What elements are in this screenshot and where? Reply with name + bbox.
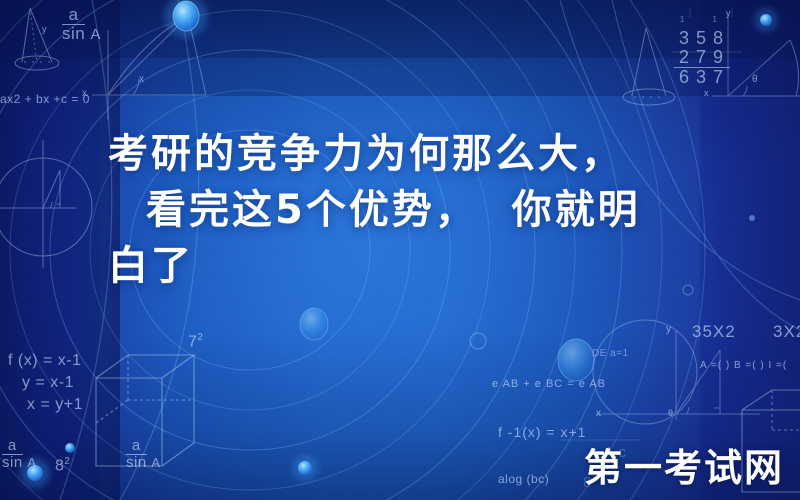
background-noise-texture (0, 0, 800, 500)
exam-promo-banner: asin A ax2 + bx +c = 0 x y x 1 1 358 279… (0, 0, 800, 500)
